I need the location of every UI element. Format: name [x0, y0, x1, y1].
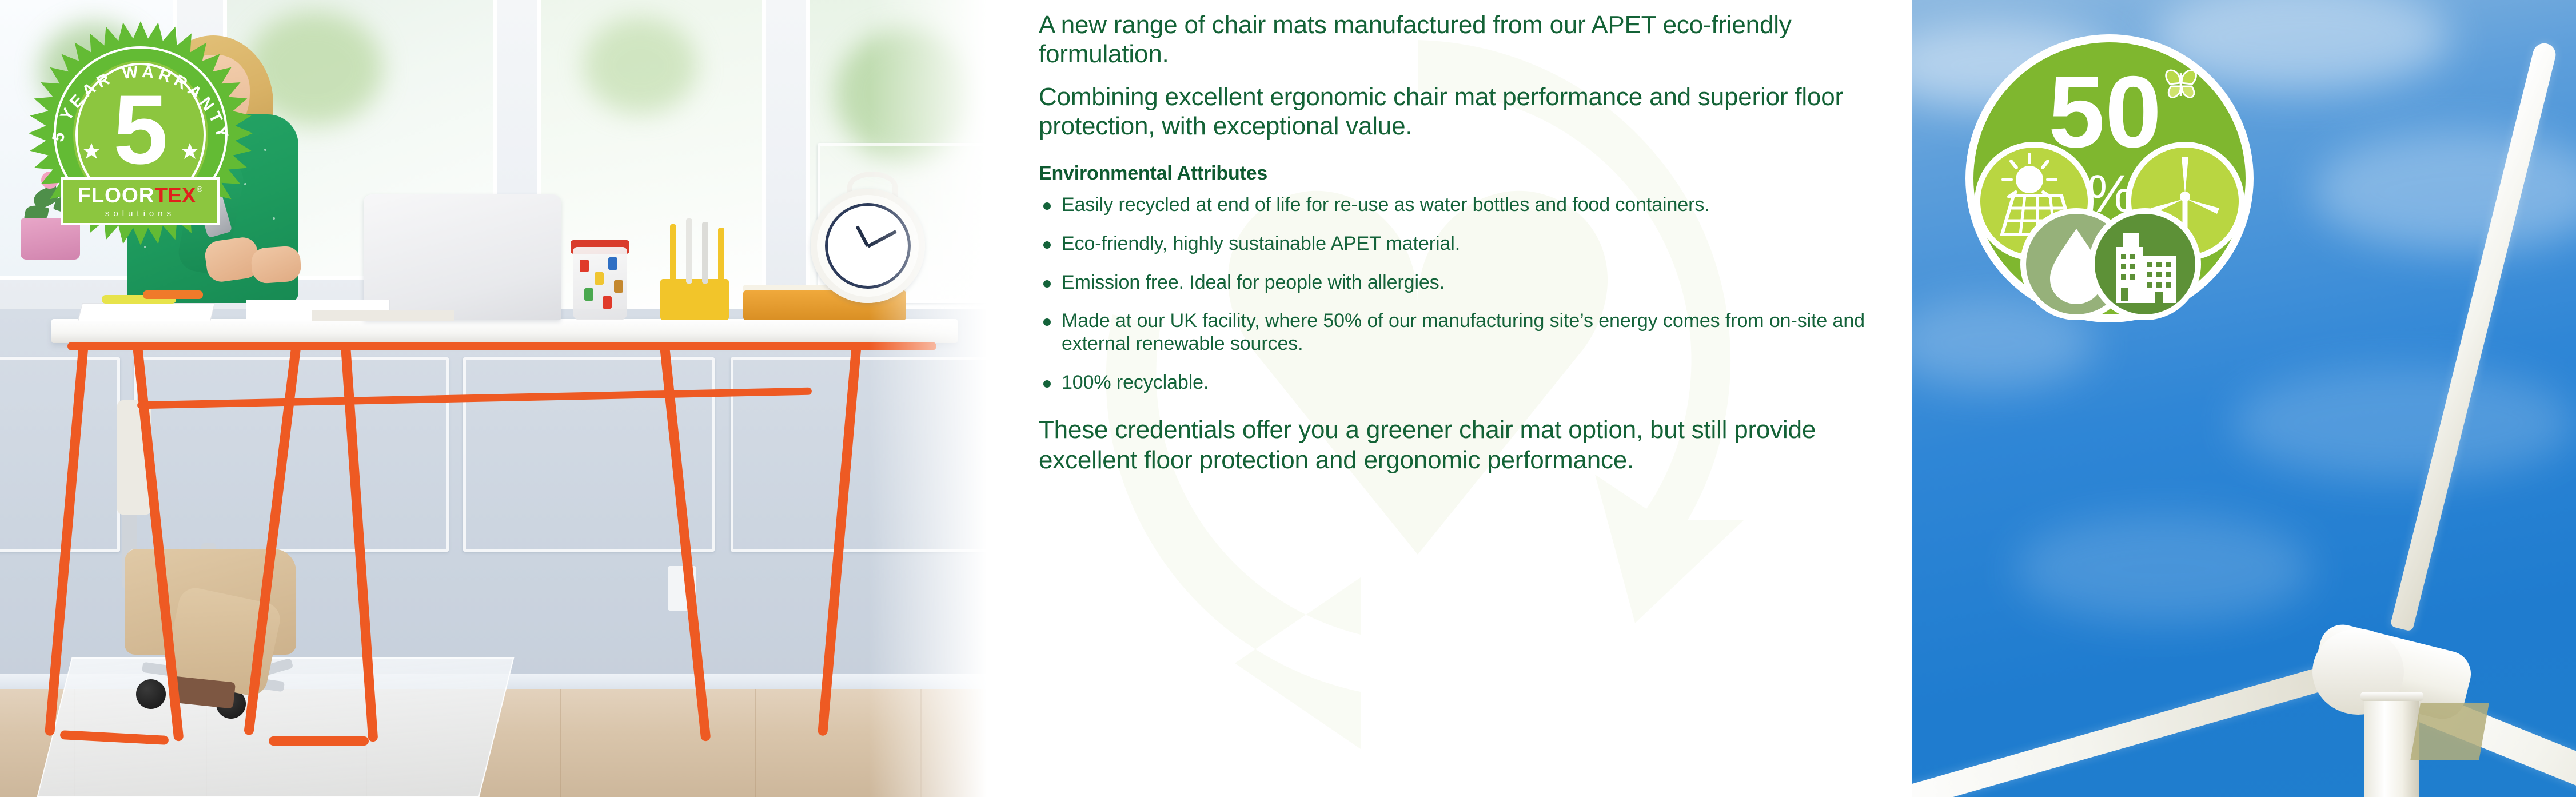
list-item: Emission free. Ideal for people with all…	[1039, 272, 1889, 294]
turbine-blade-left	[1912, 657, 2362, 797]
list-item: Easily recycled at end of life for re-us…	[1039, 194, 1889, 217]
clip-jar	[573, 247, 627, 320]
office-photo: 5 YEAR WARRANTY 5 YEAR FLOORTEX® solutio…	[0, 0, 1006, 797]
list-item: Made at our UK facility, where 50% of ou…	[1039, 310, 1889, 356]
pen	[670, 224, 676, 284]
chair-mat	[37, 657, 515, 797]
notebook	[312, 310, 454, 321]
pen-holder	[660, 279, 729, 320]
cloud	[2015, 515, 2312, 623]
wind-turbine-photo: 50 %	[1912, 0, 2576, 797]
bullet-dot-icon	[1043, 202, 1051, 210]
logo-tagline: solutions	[105, 209, 175, 218]
list-item-label: Emission free. Ideal for people with all…	[1062, 272, 1445, 293]
list-item: 100% recyclable.	[1039, 372, 1889, 394]
butterfly-icon	[2166, 70, 2196, 97]
bullet-dot-icon	[1043, 318, 1051, 326]
bullet-dot-icon	[1043, 280, 1051, 288]
turbine-blade-upper	[2390, 41, 2558, 631]
turbine-tower-collar	[2360, 692, 2423, 701]
bullet-dot-icon	[1043, 241, 1051, 249]
bullet-dot-icon	[1043, 380, 1051, 388]
logo-tex-text: TEX	[154, 185, 196, 206]
list-item-label: Easily recycled at end of life for re-us…	[1062, 194, 1710, 216]
list-item-label: 100% recyclable.	[1062, 372, 1209, 393]
chair-caster	[136, 679, 166, 709]
lead-paragraph-2: Combining excellent ergonomic chair mat …	[1039, 82, 1889, 141]
list-item-label: Eco-friendly, highly sustainable APET ma…	[1062, 233, 1460, 254]
environmental-attributes-list: Easily recycled at end of life for re-us…	[1039, 194, 1889, 394]
desk-top	[51, 319, 958, 343]
wall-moulding-panel	[0, 357, 120, 552]
turbine-shadow-detail	[2410, 703, 2489, 760]
person-hand	[250, 245, 302, 284]
badge-number: 5	[113, 75, 168, 185]
laptop	[364, 194, 561, 320]
foliage-blur	[583, 17, 697, 114]
copy-panel: A new range of chair mats manufactured f…	[1006, 0, 1912, 797]
list-item: Eco-friendly, highly sustainable APET ma…	[1039, 233, 1889, 256]
desk-cross-rail	[67, 342, 936, 350]
desk-foot-rail	[269, 736, 369, 746]
fifty-percent-eco-badge: 50 %	[1961, 30, 2258, 327]
registered-mark-icon: ®	[197, 185, 202, 193]
list-item-label: Made at our UK facility, where 50% of ou…	[1062, 310, 1865, 354]
building-icon	[2089, 208, 2201, 320]
eco-chair-mat-banner: 5 YEAR WARRANTY 5 YEAR FLOORTEX® solutio…	[0, 0, 2576, 797]
loose-papers	[78, 303, 215, 321]
floortex-logo: FLOORTEX® solutions	[61, 177, 220, 225]
cloud	[2232, 366, 2575, 480]
marker-pen	[143, 290, 203, 299]
photo-fade-overlay	[869, 0, 1006, 797]
pen	[686, 218, 692, 284]
closing-paragraph: These credentials offer you a greener ch…	[1039, 415, 1889, 476]
lead-paragraph-1: A new range of chair mats manufactured f…	[1039, 10, 1889, 69]
section-title: Environmental Attributes	[1039, 162, 1889, 185]
logo-floor-text: FLOOR	[78, 185, 154, 206]
turbine-tower	[2364, 695, 2419, 797]
cloud	[2312, 131, 2576, 252]
pen	[702, 222, 708, 284]
pen	[718, 228, 724, 284]
five-year-warranty-badge: 5 YEAR WARRANTY 5 YEAR FLOORTEX® solutio…	[21, 10, 261, 250]
